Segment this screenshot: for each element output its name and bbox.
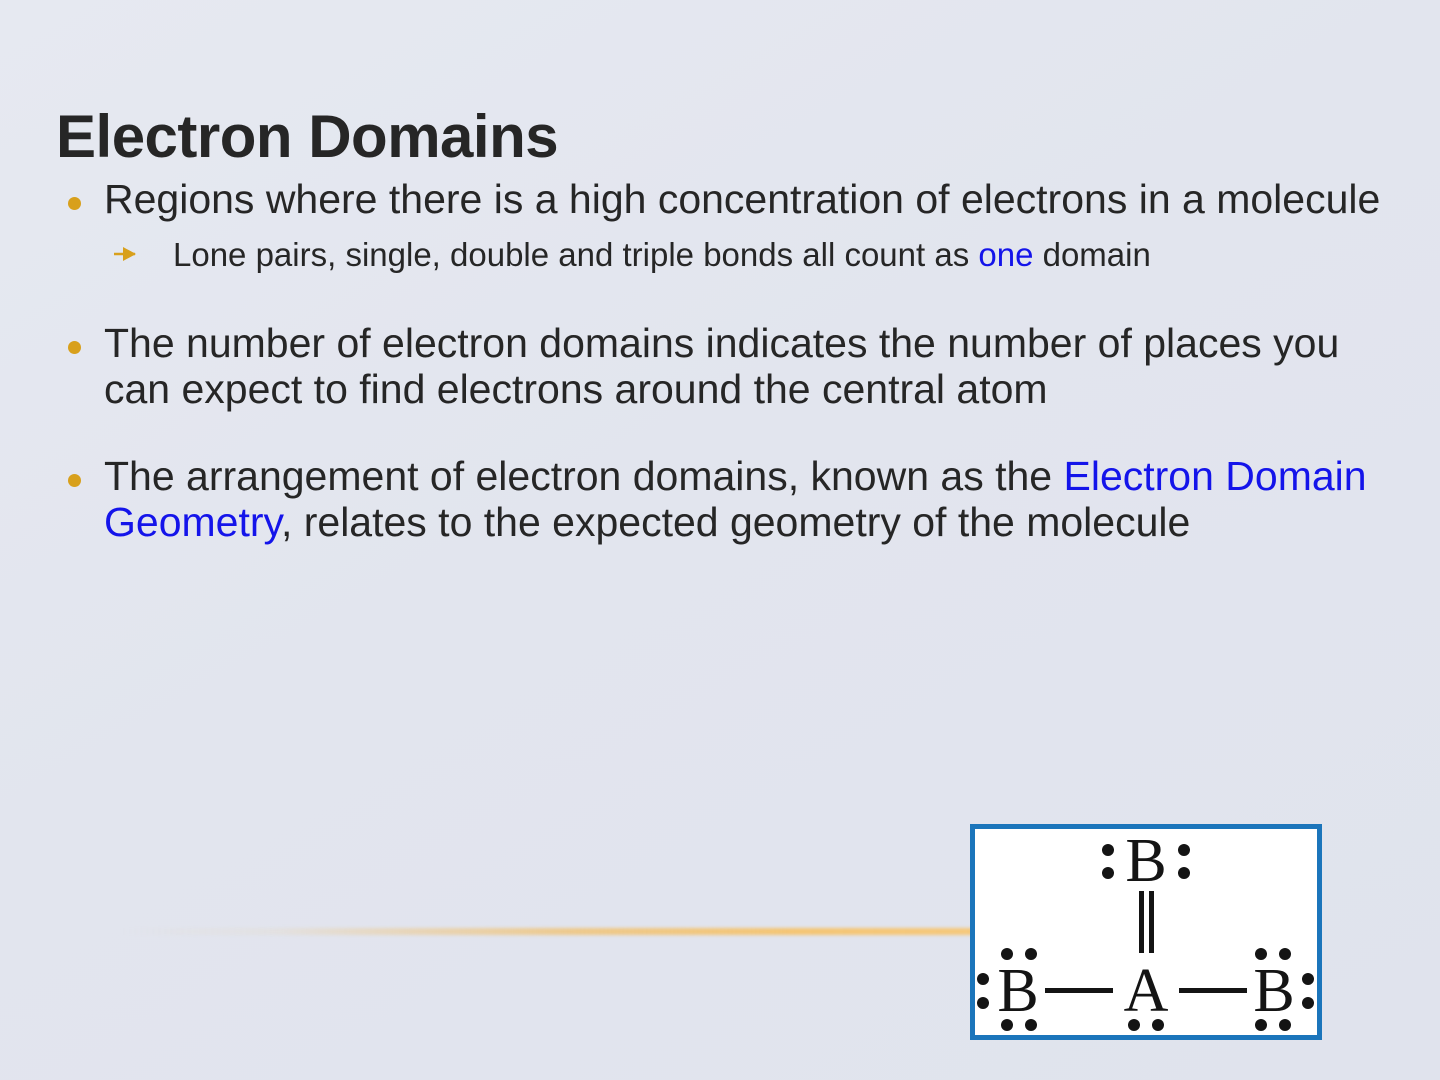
lewis-structure-figure: B A B <box>970 824 1322 1040</box>
bullet-text-4-after: , relates to the expected geometry of th… <box>281 499 1190 545</box>
spacer <box>58 419 1388 453</box>
gold-dot-bullet-icon <box>68 197 81 210</box>
bullet-text-4-before: The arrangement of electron domains, kno… <box>104 453 1063 499</box>
bullet-item-3: The number of electron domains indicates… <box>58 320 1388 413</box>
atom-label-left-B: B <box>997 957 1038 1025</box>
gold-dot-bullet-icon <box>68 341 81 354</box>
atom-label-center-A: A <box>1124 957 1169 1025</box>
slide-body: Regions where there is a high concentrat… <box>58 176 1388 551</box>
bullet-item-4: The arrangement of electron domains, kno… <box>58 453 1388 546</box>
atom-label-right-B: B <box>1253 957 1294 1025</box>
bullet-text-1: Regions where there is a high concentrat… <box>104 176 1380 222</box>
gold-arrow-bullet-icon <box>110 239 140 269</box>
bullet-item-2: Lone pairs, single, double and triple bo… <box>58 236 1388 274</box>
slide-canvas: Electron Domains Regions where there is … <box>0 0 1440 1080</box>
bullet-text-2-highlight: one <box>978 236 1033 273</box>
page-title: Electron Domains <box>56 102 558 171</box>
gold-dot-bullet-icon <box>68 474 81 487</box>
bullet-text-2-before: Lone pairs, single, double and triple bo… <box>173 236 978 273</box>
atom-label-top-B: B <box>1125 829 1166 895</box>
bullet-text-2-after: domain <box>1033 236 1150 273</box>
spacer <box>58 290 1388 320</box>
bullet-item-1: Regions where there is a high concentrat… <box>58 176 1388 222</box>
bullet-text-3: The number of electron domains indicates… <box>104 320 1339 412</box>
